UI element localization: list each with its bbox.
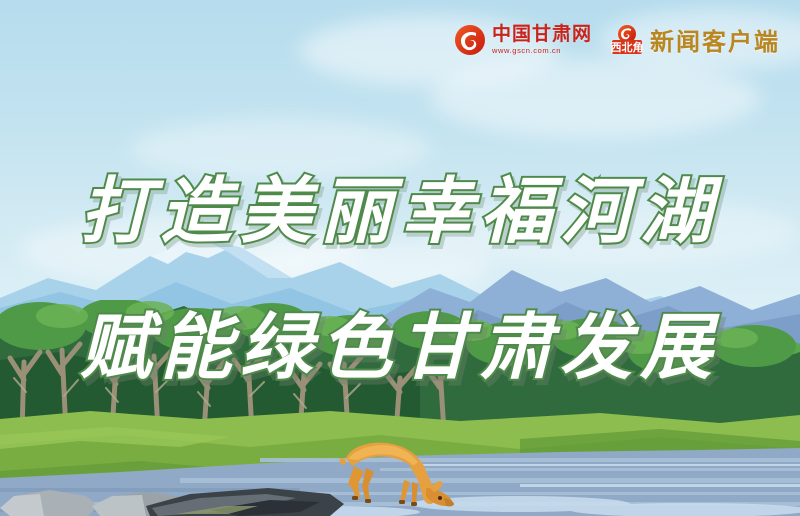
- poster-canvas: 中国甘肃网 www.gscn.com.cn 西北角 新闻客户端 打: [0, 0, 800, 516]
- cloud-shape: [130, 118, 430, 180]
- deer-illustration: [330, 432, 460, 508]
- news-app-logo[interactable]: 西北角 新闻客户端: [610, 22, 780, 57]
- gscn-url: www.gscn.com.cn: [492, 47, 592, 55]
- logo-bar: 中国甘肃网 www.gscn.com.cn 西北角 新闻客户端: [454, 22, 780, 57]
- xibeijiao-logo-mark: 西北角: [610, 23, 644, 57]
- gscn-logo-text: 中国甘肃网 www.gscn.com.cn: [492, 25, 592, 55]
- news-app-label: 新闻客户端: [650, 22, 780, 57]
- gscn-name: 中国甘肃网: [492, 25, 592, 44]
- cloud-shape: [430, 58, 760, 138]
- gscn-logo-mark: [454, 24, 486, 56]
- gscn-logo[interactable]: 中国甘肃网 www.gscn.com.cn: [454, 24, 592, 56]
- svg-text:西北角: 西北角: [611, 40, 644, 54]
